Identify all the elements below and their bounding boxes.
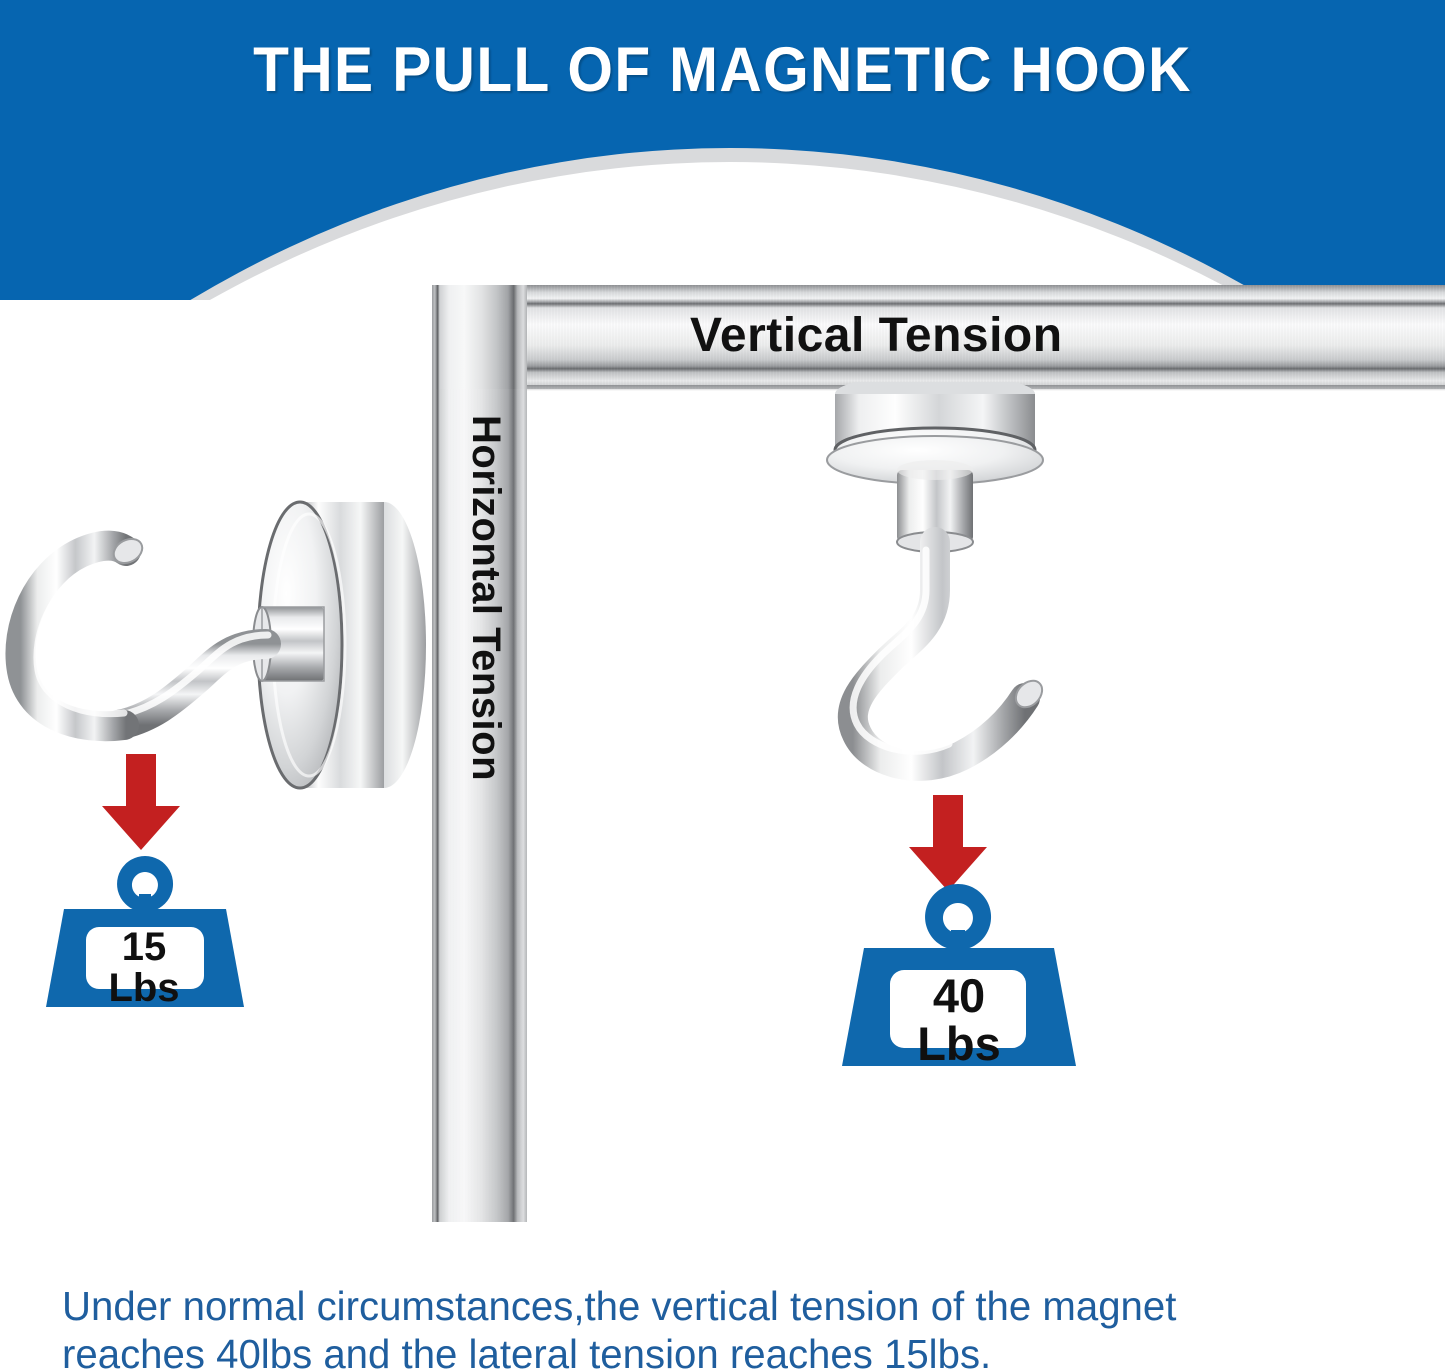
- weight-label-15lbs: 15 Lbs: [44, 927, 244, 1009]
- vertical-tension-label: Vertical Tension: [690, 305, 1210, 367]
- header-banner: THE PULL OF MAGNETIC HOOK: [0, 0, 1445, 300]
- page-title: THE PULL OF MAGNETIC HOOK: [51, 34, 1395, 106]
- down-arrow-icon-right: [903, 795, 993, 891]
- infographic-page: THE PULL OF MAGNETIC HOOK Vertical Tensi…: [0, 0, 1445, 1370]
- weight-label-40lbs: 40 Lbs: [850, 972, 1068, 1068]
- vertical-tension-hook-assembly: [785, 382, 1095, 802]
- horizontal-tension-hook-assembly: [0, 495, 450, 805]
- caption-line-2: reaches 40lbs and the lateral tension re…: [62, 1330, 1365, 1370]
- caption-line-1: Under normal circumstances,the vertical …: [62, 1282, 1365, 1330]
- footer-caption: Under normal circumstances,the vertical …: [62, 1282, 1365, 1370]
- wall-bar-corner-joint: [432, 285, 527, 389]
- horizontal-tension-label: Horizontal Tension: [460, 415, 508, 835]
- down-arrow-icon-left: [96, 754, 186, 850]
